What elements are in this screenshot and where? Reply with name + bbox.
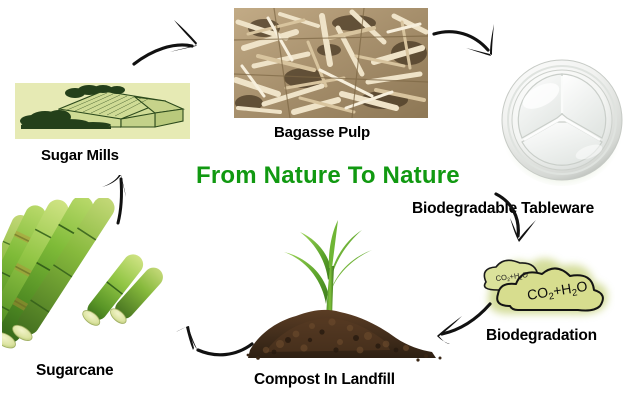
arrow-tableware-to-biodeg-icon <box>486 192 540 254</box>
label-compost-in-landfill: Compost In Landfill <box>254 371 395 389</box>
label-sugar-mills: Sugar Mills <box>41 147 119 164</box>
sugar-mill-illustration <box>15 83 190 139</box>
page-title: From Nature To Nature <box>196 162 460 190</box>
infographic-canvas: From Nature To Nature <box>0 0 640 400</box>
arrow-biodeg-to-compost-icon <box>424 300 494 344</box>
cloud-small-formula-a: CO <box>495 273 507 283</box>
arrow-compost-to-cane-icon <box>172 322 256 366</box>
arrow-pulp-to-tableware-icon <box>432 20 518 78</box>
arrow-cane-to-mills-icon <box>88 163 154 225</box>
label-sugarcane: Sugarcane <box>36 362 113 380</box>
soil-mound-with-seedling <box>240 218 445 368</box>
label-bagasse-pulp: Bagasse Pulp <box>274 124 370 141</box>
cloud-formula-a: CO <box>526 284 549 303</box>
arrow-mills-to-pulp-icon <box>130 14 222 72</box>
label-biodegradation: Biodegradation <box>486 327 597 345</box>
bagasse-pulp-photo <box>234 8 428 118</box>
